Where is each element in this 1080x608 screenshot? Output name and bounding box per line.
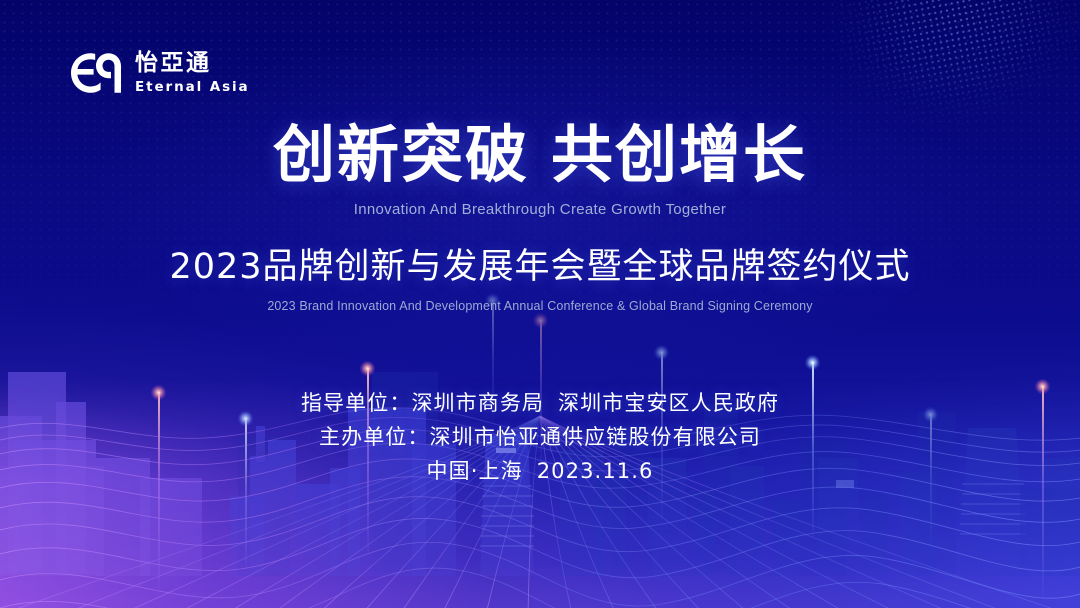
- venue-date-line: 中国·上海2023.11.6: [0, 454, 1080, 488]
- brand-wordmark: 怡亞通 Eternal Asia: [135, 52, 250, 95]
- hero-text-block: 创新突破共创增长 Innovation And Breakthrough Cre…: [0, 122, 1080, 313]
- event-subtitle-en: 2023 Brand Innovation And Development An…: [0, 299, 1080, 313]
- ea-monogram-icon: [68, 50, 124, 96]
- organiser-info-block: 指导单位：深圳市商务局深圳市宝安区人民政府 主办单位：深圳市怡亚通供应链股份有限…: [0, 386, 1080, 488]
- main-title: 创新突破共创增长: [0, 122, 1080, 188]
- guidance-line: 指导单位：深圳市商务局深圳市宝安区人民政府: [0, 386, 1080, 420]
- host-line: 主办单位：深圳市怡亚通供应链股份有限公司: [0, 420, 1080, 454]
- main-title-part2: 共创增长: [551, 118, 807, 191]
- guidance-label: 指导单位：: [301, 391, 412, 415]
- guidance-org-1: 深圳市商务局: [411, 391, 544, 415]
- guidance-org-2: 深圳市宝安区人民政府: [558, 391, 779, 415]
- main-title-part1: 创新突破: [273, 118, 529, 191]
- host-org: 深圳市怡亚通供应链股份有限公司: [430, 425, 762, 449]
- brand-name-en: Eternal Asia: [135, 81, 250, 95]
- event-subtitle-cn: 2023品牌创新与发展年会暨全球品牌签约仪式: [0, 238, 1080, 289]
- host-label: 主办单位：: [319, 425, 430, 449]
- main-title-english: Innovation And Breakthrough Create Growt…: [0, 201, 1080, 218]
- event-date: 2023.11.6: [537, 459, 654, 483]
- brand-logo[interactable]: 怡亞通 Eternal Asia: [68, 50, 250, 96]
- poster-canvas: 怡亞通 Eternal Asia 创新突破共创增长 Innovation And…: [0, 0, 1080, 608]
- event-location: 中国·上海: [427, 459, 523, 483]
- brand-name-cn: 怡亞通: [135, 52, 250, 75]
